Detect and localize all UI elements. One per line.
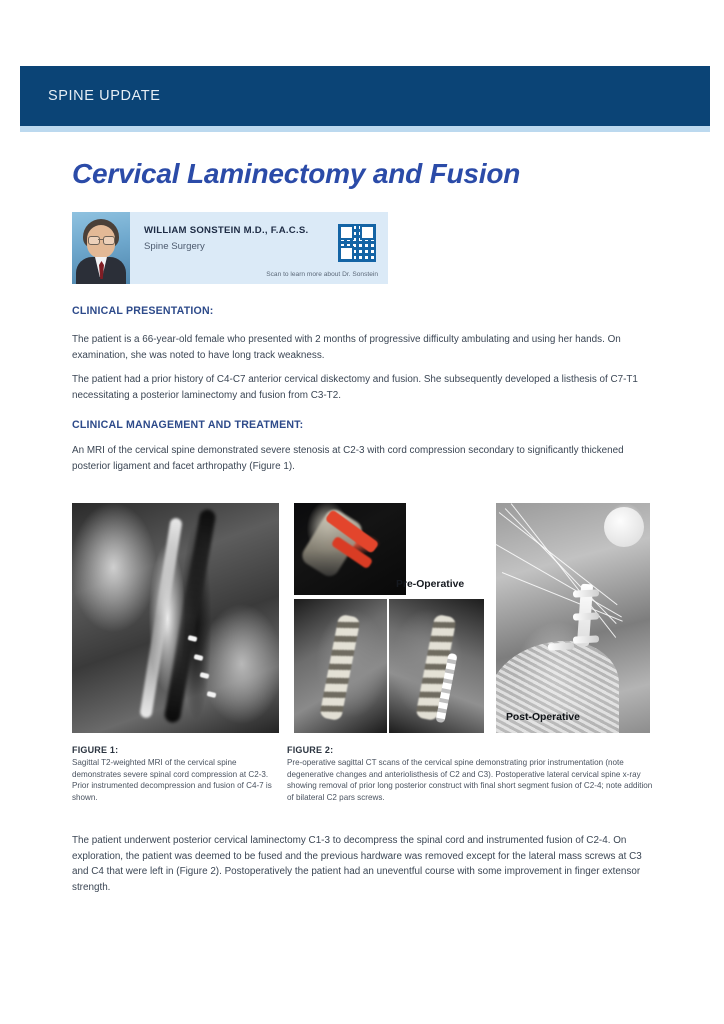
figure-1-caption: FIGURE 1: Sagittal T2-weighted MRI of th… bbox=[72, 745, 272, 803]
qr-finder-top-right bbox=[360, 225, 375, 240]
figure-2-caption-body: Pre-operative sagittal CT scans of the c… bbox=[287, 757, 657, 803]
mri-hardware-4 bbox=[206, 691, 216, 698]
xray-wire-3 bbox=[496, 544, 622, 618]
xray-screw-3 bbox=[573, 636, 599, 644]
figure-2-postop-xray-image bbox=[496, 503, 650, 733]
xray-wire-5 bbox=[502, 572, 623, 622]
paragraph-closing: The patient underwent posterior cervical… bbox=[72, 833, 650, 895]
figure-image-group: Pre-Operative Post-Operative bbox=[72, 503, 650, 733]
figure-2-caption: FIGURE 2: Pre-operative sagittal CT scan… bbox=[287, 745, 657, 803]
xray-screw-2 bbox=[573, 613, 599, 621]
qr-code-icon[interactable] bbox=[338, 224, 376, 262]
paragraph-presentation-2: The patient had a prior history of C4-C7… bbox=[72, 372, 650, 403]
portrait-glasses-right bbox=[103, 236, 115, 245]
qr-finder-top-left bbox=[339, 225, 354, 240]
page-title: Cervical Laminectomy and Fusion bbox=[72, 158, 520, 190]
author-byline-card: WILLIAM SONSTEIN M.D., F.A.C.S. Spine Su… bbox=[72, 212, 388, 284]
panel-label-postoperative: Post-Operative bbox=[502, 710, 584, 725]
mri-hardware-3 bbox=[200, 672, 210, 679]
figure-2-ct-sagittal-right-image bbox=[389, 599, 484, 733]
figure-1-caption-title: FIGURE 1: bbox=[72, 745, 272, 755]
figure-2-ct-color-rendering-image bbox=[294, 503, 406, 595]
mri-hardware-2 bbox=[194, 654, 204, 661]
section-heading-clinical-management: CLINICAL MANAGEMENT AND TREATMENT: bbox=[72, 419, 303, 431]
figure-2-ct-sagittal-left-image bbox=[294, 599, 387, 733]
document-page: SPINE UPDATE Cervical Laminectomy and Fu… bbox=[0, 0, 724, 1024]
header-underline-rule bbox=[20, 126, 710, 132]
paragraph-presentation-1: The patient is a 66-year-old female who … bbox=[72, 332, 650, 363]
figure-1-caption-body: Sagittal T2-weighted MRI of the cervical… bbox=[72, 757, 272, 803]
figure-2-caption-title: FIGURE 2: bbox=[287, 745, 657, 755]
qr-finder-bottom-left bbox=[339, 246, 354, 261]
author-details: WILLIAM SONSTEIN M.D., F.A.C.S. Spine Su… bbox=[130, 212, 388, 284]
xray-wire-4 bbox=[511, 503, 617, 638]
figure-1-mri-sagittal-image bbox=[72, 503, 279, 733]
portrait-glasses-left bbox=[88, 236, 100, 245]
portrait-glasses-bridge bbox=[98, 239, 103, 240]
header-label: SPINE UPDATE bbox=[48, 88, 160, 104]
xray-screw-1 bbox=[573, 590, 599, 598]
section-heading-clinical-presentation: CLINICAL PRESENTATION: bbox=[72, 305, 214, 317]
xray-occiput-sphere bbox=[604, 507, 644, 547]
qr-scan-caption: Scan to learn more about Dr. Sonstein bbox=[266, 271, 378, 278]
paragraph-management-1: An MRI of the cervical spine demonstrate… bbox=[72, 443, 650, 474]
ct-vertebral-column-left bbox=[320, 614, 362, 721]
author-photo bbox=[72, 212, 130, 284]
xray-wire-1 bbox=[499, 512, 618, 605]
panel-label-preoperative: Pre-Operative bbox=[392, 577, 468, 592]
